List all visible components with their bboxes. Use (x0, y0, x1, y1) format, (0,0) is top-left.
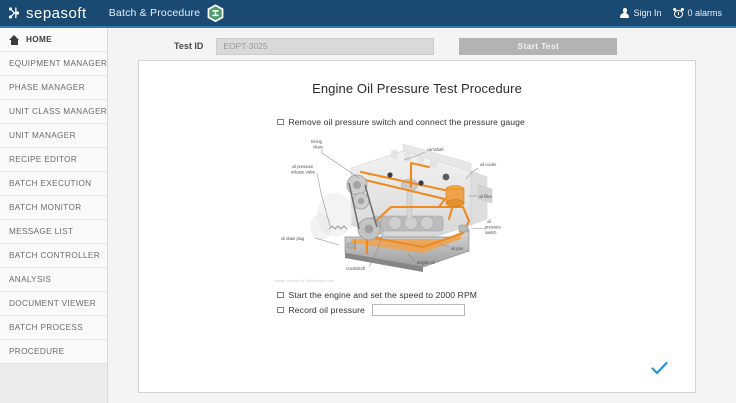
sidebar-item-label: PHASE MANAGER (9, 83, 85, 92)
header-actions: Sign In 0 alarms (616, 8, 736, 18)
diagram-label: crankshaft (346, 266, 366, 271)
diagram-label: oil drain plug (281, 236, 305, 241)
sidebar-item-procedure[interactable]: PROCEDURE (0, 340, 107, 364)
sidebar-item-label: UNIT CLASS MANAGER (9, 107, 107, 116)
home-icon (9, 35, 20, 45)
engine-oil-system-diagram: timing chain camshaft oil cooler oil fil… (273, 133, 561, 283)
sidebar-item-label: MESSAGE LIST (9, 227, 73, 236)
diagram-label: oil (487, 219, 491, 224)
sidebar-empty-space (0, 364, 107, 403)
sidebar-item-label: HOME (26, 35, 52, 44)
sidebar-item-analysis[interactable]: ANALYSIS (0, 268, 107, 292)
diagram-label: oil cooler (480, 162, 497, 167)
sidebar-item-batch-controller[interactable]: BATCH CONTROLLER (0, 244, 107, 268)
diagram-label: timing (311, 139, 323, 144)
alarm-clock-icon (673, 8, 683, 18)
sidebar-nav: HOME EQUIPMENT MANAGER PHASE MANAGER UNI… (0, 28, 108, 403)
procedure-steps-top: Remove oil pressure switch and connect t… (139, 117, 695, 127)
brand-logo[interactable]: sepasoft (0, 6, 87, 21)
start-test-button[interactable]: Start Test (459, 38, 617, 55)
person-icon (620, 8, 629, 18)
diagram-label: oil pressure (292, 164, 314, 169)
sidebar-item-label: DOCUMENT VIEWER (9, 299, 96, 308)
sidebar-item-message-list[interactable]: MESSAGE LIST (0, 220, 107, 244)
test-id-label: Test ID (174, 41, 203, 51)
sign-in-button[interactable]: Sign In (616, 8, 665, 18)
procedure-document-panel: Engine Oil Pressure Test Procedure Remov… (138, 60, 696, 393)
image-attribution: Image courtesy of CarMechanic.com (275, 279, 561, 283)
sidebar-item-batch-process[interactable]: BATCH PROCESS (0, 316, 107, 340)
procedure-step[interactable]: Start the engine and set the speed to 20… (277, 290, 695, 300)
sidebar-item-label: BATCH PROCESS (9, 323, 83, 332)
diagram-label: oil pan (451, 246, 464, 251)
diagram-label: camshaft (427, 147, 444, 152)
sidebar-item-home[interactable]: HOME (0, 28, 107, 52)
sidebar-item-phase-manager[interactable]: PHASE MANAGER (0, 76, 107, 100)
sidebar-item-label: BATCH MONITOR (9, 203, 81, 212)
step-checkbox[interactable] (277, 119, 284, 126)
diagram-label: pressure (485, 225, 502, 230)
sidebar-item-batch-execution[interactable]: BATCH EXECUTION (0, 172, 107, 196)
step-label: Remove oil pressure switch and connect t… (289, 117, 525, 127)
sidebar-item-recipe-editor[interactable]: RECIPE EDITOR (0, 148, 107, 172)
diagram-label: engine oil (417, 260, 435, 265)
sidebar-item-label: BATCH CONTROLLER (9, 251, 100, 260)
diagram-label: switch (485, 230, 497, 235)
app-header: sepasoft Batch & Procedure Sign In 0 ala… (0, 0, 736, 28)
procedure-step[interactable]: Remove oil pressure switch and connect t… (277, 117, 695, 127)
sidebar-item-label: PROCEDURE (9, 347, 64, 356)
sidebar-item-unit-manager[interactable]: UNIT MANAGER (0, 124, 107, 148)
alarms-indicator[interactable]: 0 alarms (669, 8, 726, 18)
sign-in-label: Sign In (633, 8, 661, 18)
step-label: Start the engine and set the speed to 20… (289, 290, 478, 300)
sidebar-item-document-viewer[interactable]: DOCUMENT VIEWER (0, 292, 107, 316)
batch-procedure-icon (207, 4, 224, 23)
alarms-label: 0 alarms (687, 8, 722, 18)
document-title: Engine Oil Pressure Test Procedure (139, 81, 695, 96)
procedure-steps-bottom: Start the engine and set the speed to 20… (139, 290, 695, 316)
diagram-label: chain (313, 145, 324, 150)
step-checkbox[interactable] (277, 292, 284, 299)
diagram-label: release valve (291, 170, 316, 175)
step-checkbox[interactable] (277, 307, 284, 314)
sidebar-item-equipment-manager[interactable]: EQUIPMENT MANAGER (0, 52, 107, 76)
sidebar-item-unit-class-manager[interactable]: UNIT CLASS MANAGER (0, 100, 107, 124)
sepasoft-logo-icon (8, 6, 22, 20)
module-title: Batch & Procedure (109, 7, 201, 19)
step-label: Record oil pressure (289, 305, 365, 315)
procedure-step[interactable]: Record oil pressure (277, 304, 695, 316)
sidebar-item-label: RECIPE EDITOR (9, 155, 77, 164)
diagram-label: oil filter (479, 194, 493, 199)
application-window: sepasoft Batch & Procedure Sign In 0 ala… (0, 0, 736, 403)
test-id-input[interactable] (216, 38, 434, 55)
sidebar-item-label: BATCH EXECUTION (9, 179, 91, 188)
test-toolbar: Test ID Start Test (108, 36, 736, 56)
sidebar-item-label: ANALYSIS (9, 275, 51, 284)
sidebar-item-label: UNIT MANAGER (9, 131, 76, 140)
brand-name: sepasoft (26, 6, 87, 21)
sidebar-item-batch-monitor[interactable]: BATCH MONITOR (0, 196, 107, 220)
blue-checkmark-icon[interactable] (651, 361, 668, 376)
sidebar-item-label: EQUIPMENT MANAGER (9, 59, 107, 68)
oil-pressure-input[interactable] (372, 304, 465, 316)
